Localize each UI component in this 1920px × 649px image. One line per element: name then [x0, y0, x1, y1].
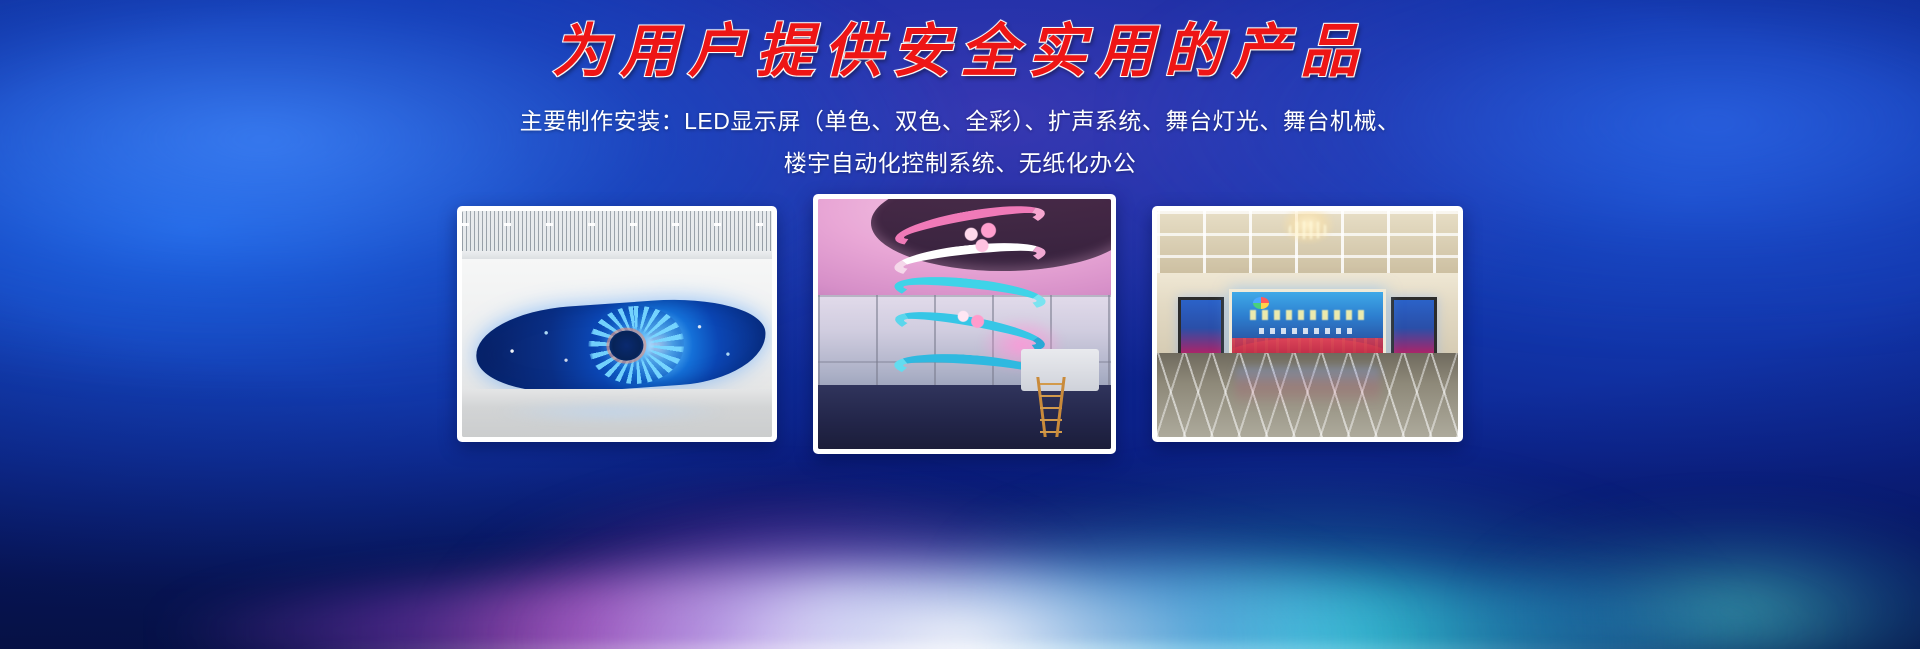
gallery-photo-conference-hall-led-screen[interactable] [1152, 206, 1463, 442]
screen-subtitle-text [1259, 328, 1355, 334]
photo-image-eye-led [462, 211, 772, 437]
subtitle-line-1: 主要制作安装：LED显示屏（单色、双色、全彩）、扩声系统、舞台灯光、舞台机械、 [0, 100, 1920, 142]
screen-title-text [1250, 310, 1364, 320]
ladder-rungs [1040, 383, 1062, 433]
ceiling-slats [462, 211, 772, 251]
floor-screen-reflection [1235, 367, 1380, 407]
photo-image-spiral-led [818, 199, 1111, 449]
banner-content: 为用户提供安全实用的产品 主要制作安装：LED显示屏（单色、双色、全彩）、扩声系… [0, 0, 1920, 649]
photo-image-conference-led [1157, 211, 1458, 437]
company-logo-icon [1253, 297, 1269, 309]
banner-gallery [0, 186, 1920, 476]
banner-headline: 为用户提供安全实用的产品 [0, 20, 1920, 84]
banner-subtitle: 主要制作安装：LED显示屏（单色、双色、全彩）、扩声系统、舞台灯光、舞台机械、 … [0, 100, 1920, 184]
dark-base [818, 385, 1111, 449]
subtitle-line-2: 楼宇自动化控制系统、无纸化办公 [0, 142, 1920, 184]
blossom-graphic-1 [955, 219, 1009, 257]
ceiling-edge [462, 251, 772, 259]
gallery-photo-eye-shaped-led-display[interactable] [457, 206, 777, 442]
gallery-photo-spiral-led-ribbon[interactable] [813, 194, 1116, 454]
floor-reflection [492, 401, 732, 423]
ladder-icon [1038, 377, 1064, 437]
chandelier-icon [1281, 211, 1335, 245]
promo-banner: 为用户提供安全实用的产品 主要制作安装：LED显示屏（单色、双色、全彩）、扩声系… [0, 0, 1920, 649]
blossom-graphic-2 [944, 301, 992, 335]
